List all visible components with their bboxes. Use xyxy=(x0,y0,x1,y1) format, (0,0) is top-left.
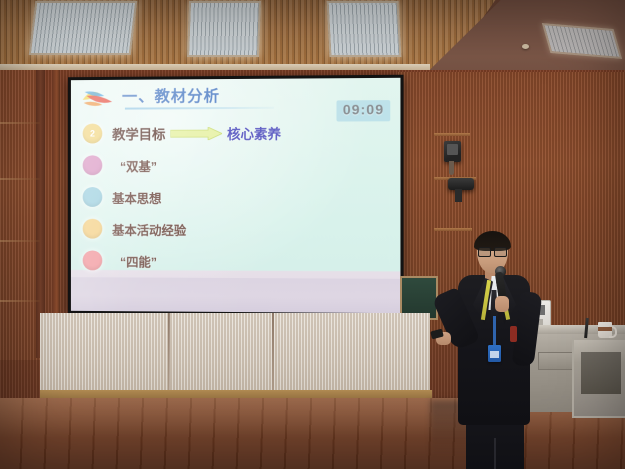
highlight-label: 核心素养 xyxy=(227,123,281,143)
left-wall-column xyxy=(0,70,40,360)
id-badge xyxy=(488,345,501,362)
list-item: 基本思想 xyxy=(83,187,162,207)
stage-front-panels xyxy=(40,313,430,395)
clock-value: 09:09 xyxy=(343,101,384,117)
slide-clock: 09:09 xyxy=(337,100,391,121)
ceiling-light-panel xyxy=(327,1,402,57)
screen-surface: 一、教材分析 09:09 2 教学目标 核心素养 xyxy=(71,78,401,313)
list-item: 基本活动经验 xyxy=(83,219,187,239)
list-item: “四能” xyxy=(83,250,157,270)
lecture-hall-photo: 一、教材分析 09:09 2 教学目标 核心素养 xyxy=(0,0,625,469)
stage-panel-seam xyxy=(272,313,274,395)
list-item: 2 教学目标 核心素养 xyxy=(83,123,281,144)
bullet-badge xyxy=(83,187,103,207)
ceiling-light-panel xyxy=(29,1,138,55)
list-item: “双基” xyxy=(83,155,157,175)
presentation-slide: 一、教材分析 09:09 2 教学目标 核心素养 xyxy=(71,78,401,313)
jacket-red-accent xyxy=(510,326,517,342)
colorful-ribbon-logo xyxy=(81,86,116,113)
camera-mount xyxy=(455,189,462,202)
title-underline xyxy=(125,107,274,110)
presenter-leg-split xyxy=(494,438,496,469)
bullet-label: “双基” xyxy=(120,156,157,175)
bullet-badge xyxy=(83,155,103,175)
bullet-badge xyxy=(83,219,103,239)
bullet-label: 教学目标 xyxy=(112,123,165,143)
wall-speaker-icon xyxy=(444,141,461,162)
glasses-lens-left xyxy=(478,247,491,257)
smoke-detector-icon xyxy=(522,44,529,49)
glasses-lens-right xyxy=(494,247,507,257)
bullet-label: 基本思想 xyxy=(112,188,161,207)
mug-band xyxy=(598,327,612,331)
badge-cord xyxy=(493,316,496,347)
wall-seam xyxy=(0,122,40,124)
bullet-label: 基本活动经验 xyxy=(112,219,186,238)
right-arrow-icon xyxy=(170,127,222,140)
wall-seam xyxy=(0,178,40,180)
speaker-mount xyxy=(449,161,454,175)
slide-title: 一、教材分析 xyxy=(122,84,220,107)
desk-cavity xyxy=(581,352,621,394)
projection-screen: 一、教材分析 09:09 2 教学目标 核心素养 xyxy=(68,75,404,317)
wall-shelf xyxy=(434,133,470,136)
presenter xyxy=(440,228,552,469)
glasses-icon xyxy=(478,247,507,256)
bullet-badge xyxy=(83,250,103,270)
ceiling-light-panel xyxy=(187,1,261,57)
bullet-label: “四能” xyxy=(120,251,157,270)
wall-seam xyxy=(0,240,40,242)
wall-seam xyxy=(0,300,40,302)
presenter-right-hand xyxy=(495,296,509,312)
slide-bottom-band xyxy=(71,277,401,313)
stage-panel-seam xyxy=(168,313,170,395)
bullet-badge: 2 xyxy=(83,124,103,144)
